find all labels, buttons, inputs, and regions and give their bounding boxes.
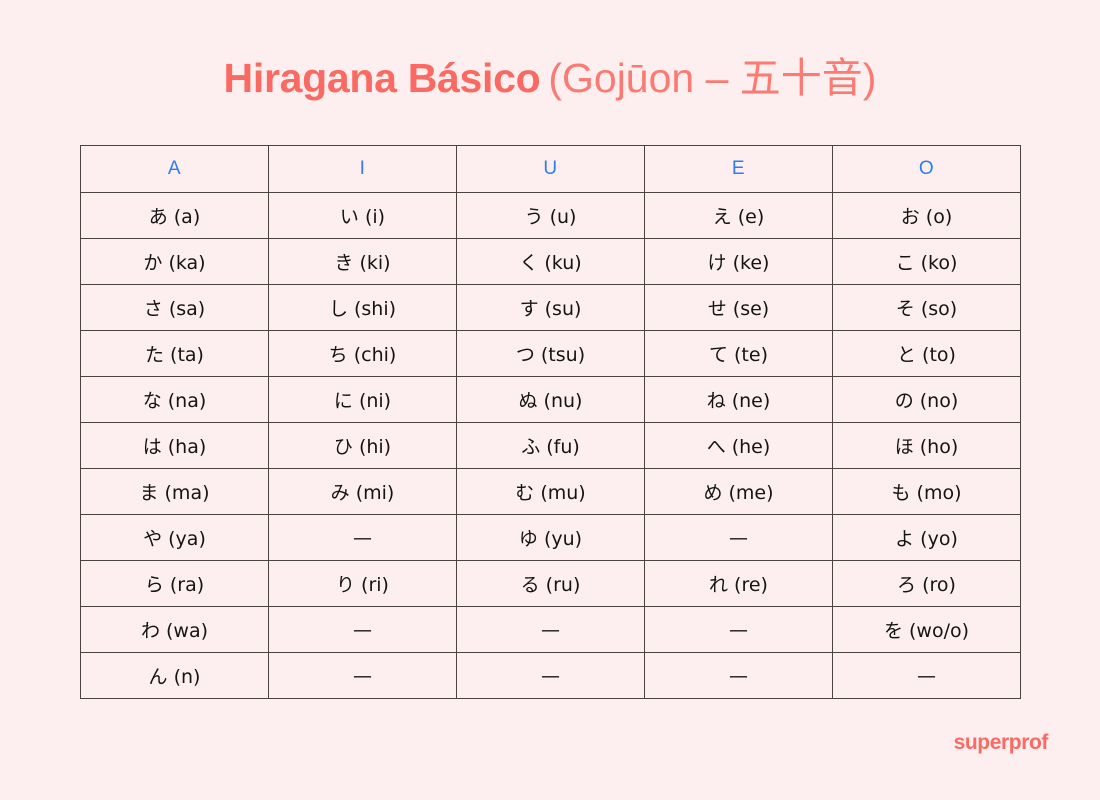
kana-cell: あ (a) [81,193,269,239]
kana-cell: め (me) [645,469,833,515]
kana-cell: さ (sa) [81,285,269,331]
kana-cell: ふ (fu) [457,423,645,469]
kana-cell: り (ri) [269,561,457,607]
kana-cell: や (ya) [81,515,269,561]
table-header: AIUEO [81,146,1021,193]
kana-cell: ら (ra) [81,561,269,607]
kana-cell: せ (se) [645,285,833,331]
column-header-u: U [457,146,645,193]
kana-cell: ほ (ho) [833,423,1021,469]
page-title-main: Hiragana Básico [224,55,541,101]
kana-cell: き (ki) [269,239,457,285]
kana-cell: に (ni) [269,377,457,423]
kana-cell-empty: — [645,607,833,653]
table-header-row: AIUEO [81,146,1021,193]
kana-cell: い (i) [269,193,457,239]
kana-cell: ひ (hi) [269,423,457,469]
kana-cell-empty: — [269,653,457,699]
kana-cell: ち (chi) [269,331,457,377]
column-header-e: E [645,146,833,193]
column-header-i: I [269,146,457,193]
kana-cell-empty: — [269,607,457,653]
kana-cell: み (mi) [269,469,457,515]
kana-cell: る (ru) [457,561,645,607]
poster-canvas: Hiragana Básico(Gojūon – 五十音) AIUEO あ (a… [0,0,1100,800]
kana-cell-empty: — [645,515,833,561]
kana-cell: お (o) [833,193,1021,239]
kana-cell: し (shi) [269,285,457,331]
kana-cell: ね (ne) [645,377,833,423]
table-body: あ (a)い (i)う (u)え (e)お (o)か (ka)き (ki)く (… [81,193,1021,699]
kana-cell-empty: — [457,653,645,699]
kana-cell: つ (tsu) [457,331,645,377]
kana-cell: な (na) [81,377,269,423]
kana-cell: け (ke) [645,239,833,285]
kana-cell: う (u) [457,193,645,239]
hiragana-table: AIUEO あ (a)い (i)う (u)え (e)お (o)か (ka)き (… [80,145,1021,699]
page-title-subtitle: (Gojūon – 五十音) [548,55,876,101]
table-row: な (na)に (ni)ぬ (nu)ね (ne)の (no) [81,377,1021,423]
kana-cell: と (to) [833,331,1021,377]
table-row: あ (a)い (i)う (u)え (e)お (o) [81,193,1021,239]
table-row: わ (wa)———を (wo/o) [81,607,1021,653]
page-title: Hiragana Básico(Gojūon – 五十音) [0,44,1100,104]
kana-cell: て (te) [645,331,833,377]
kana-cell: ま (ma) [81,469,269,515]
kana-cell: す (su) [457,285,645,331]
kana-cell: の (no) [833,377,1021,423]
kana-cell: も (mo) [833,469,1021,515]
kana-cell: ろ (ro) [833,561,1021,607]
table-row: ら (ra)り (ri)る (ru)れ (re)ろ (ro) [81,561,1021,607]
kana-cell: く (ku) [457,239,645,285]
kana-cell: は (ha) [81,423,269,469]
kana-cell: た (ta) [81,331,269,377]
superprof-logo: superprof [954,731,1048,755]
kana-cell: を (wo/o) [833,607,1021,653]
column-header-a: A [81,146,269,193]
kana-cell: え (e) [645,193,833,239]
kana-cell: ゆ (yu) [457,515,645,561]
table-row: ま (ma)み (mi)む (mu)め (me)も (mo) [81,469,1021,515]
table-row: ん (n)———— [81,653,1021,699]
kana-cell: ぬ (nu) [457,377,645,423]
kana-cell: ん (n) [81,653,269,699]
kana-cell: わ (wa) [81,607,269,653]
kana-cell: れ (re) [645,561,833,607]
table-row: さ (sa)し (shi)す (su)せ (se)そ (so) [81,285,1021,331]
kana-cell: へ (he) [645,423,833,469]
kana-cell-empty: — [457,607,645,653]
kana-cell: む (mu) [457,469,645,515]
table-row: や (ya)—ゆ (yu)—よ (yo) [81,515,1021,561]
hiragana-table-container: AIUEO あ (a)い (i)う (u)え (e)お (o)か (ka)き (… [80,145,1020,699]
kana-cell-empty: — [269,515,457,561]
kana-cell: そ (so) [833,285,1021,331]
kana-cell: こ (ko) [833,239,1021,285]
table-row: た (ta)ち (chi)つ (tsu)て (te)と (to) [81,331,1021,377]
table-row: か (ka)き (ki)く (ku)け (ke)こ (ko) [81,239,1021,285]
kana-cell-empty: — [645,653,833,699]
kana-cell-empty: — [833,653,1021,699]
kana-cell: か (ka) [81,239,269,285]
kana-cell: よ (yo) [833,515,1021,561]
table-row: は (ha)ひ (hi)ふ (fu)へ (he)ほ (ho) [81,423,1021,469]
column-header-o: O [833,146,1021,193]
